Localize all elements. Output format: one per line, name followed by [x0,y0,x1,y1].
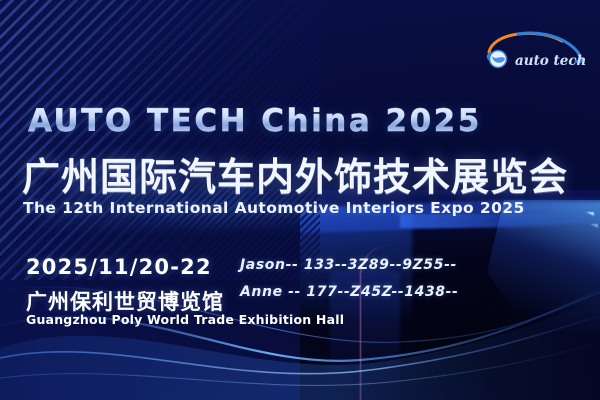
contact-line-jason: Jason-- 133--3Z89--9Z55-- [240,257,457,273]
halftone-pattern-mask [0,0,320,280]
event-date: 2025/11/20-22 [26,255,212,279]
auto-tech-logo[interactable]: auto tech [476,24,586,74]
venue-english: Guangzhou Poly World Trade Exhibition Ha… [26,312,344,327]
title-chinese: 广州国际汽车内外饰技术展览会 [22,146,568,201]
contact-line-anne: Anne -- 177--Z45Z--1438-- [240,284,458,300]
subtitle-english: The 12th International Automotive Interi… [23,199,525,217]
title-english: AUTO TECH China 2025 [28,103,482,139]
poster-canvas: auto tech AUTO TECH China 2025 广州国际汽车内外饰… [0,0,600,400]
logo-text: auto tech [515,53,586,69]
